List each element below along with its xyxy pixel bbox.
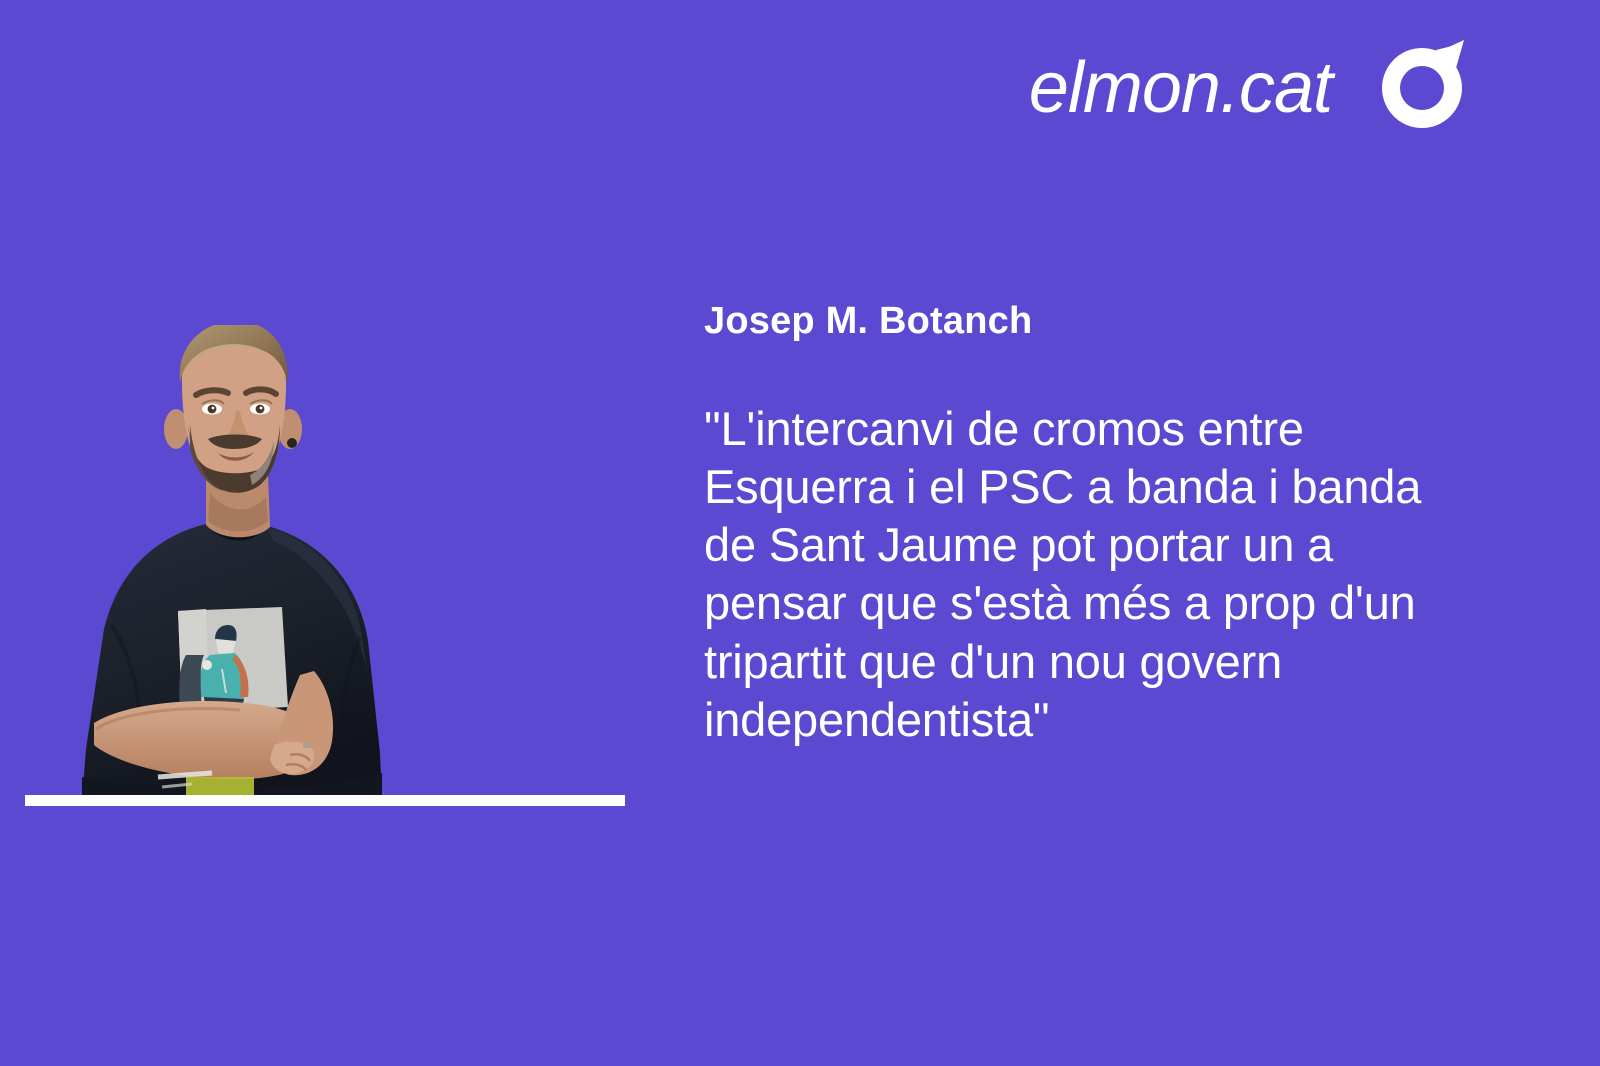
portrait-head [164,325,302,493]
quote-text: "L'intercanvi de cromos entre Esquerra i… [704,344,1464,750]
brand-wordmark: elmon.cat [1029,52,1332,124]
quote-block: Josep M. Botanch "L'intercanvi de cromos… [704,300,1464,749]
portrait-photo [60,325,410,800]
tshirt-graphic [178,607,288,717]
quote-card: elmon.cat [0,0,1600,1066]
portrait-underline-rule [25,795,625,806]
elmon-ring-logo-icon [1376,38,1468,138]
portrait-area [20,300,620,800]
brand-header: elmon.cat [1029,38,1468,138]
speaker-name: Josep M. Botanch [704,300,1464,344]
